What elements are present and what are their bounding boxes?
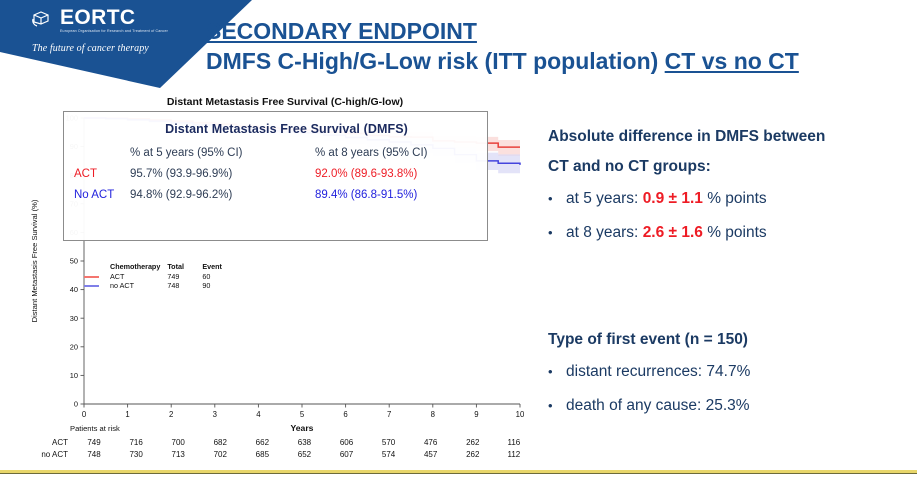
at-risk-cell: 662 [241, 436, 283, 448]
km-legend-swatch-act [84, 276, 99, 278]
page-title: SECONDARY ENDPOINT DMFS C-High/G-Low ris… [206, 16, 906, 76]
km-legend-noact-total: 748 [167, 281, 202, 290]
right-text-column-bottom: Type of first event (n = 150) • distant … [548, 325, 906, 423]
at-risk-cell: 574 [368, 448, 410, 460]
km-legend-header-0: Chemotherapy [110, 262, 167, 272]
right-heading-1-line2: CT and no CT groups: [548, 152, 906, 182]
at-risk-cell: 112 [494, 448, 534, 460]
right-heading-1-line1: Absolute difference in DMFS between [548, 122, 906, 152]
y-axis-title: Distant Metastasis Free Survival (%) [30, 199, 39, 322]
right-bullet-8y-prefix: at 8 years: [566, 224, 643, 241]
x-tick-label: 7 [387, 410, 391, 419]
at-risk-cell: 457 [410, 448, 452, 460]
stats-row-act-label: ACT [74, 168, 130, 180]
bullet-dot-icon: • [548, 182, 566, 216]
right-bullet-5y-prefix: at 5 years: [566, 190, 643, 207]
accent-bar-segment [600, 470, 917, 473]
right-bullet-8y-value: 2.6 ± 1.6 [643, 224, 703, 241]
right-bullet-8y: • at 8 years: 2.6 ± 1.6 % points [548, 216, 906, 250]
patients-at-risk-table: Patients at risk ACT74971670068266263860… [22, 424, 534, 460]
km-legend-swatch-noact [84, 285, 99, 287]
eortc-logo: EORTC European Organisation for Research… [30, 8, 220, 54]
logo-wordmark: EORTC [60, 8, 168, 28]
bottom-accent-bar [0, 466, 917, 477]
stats-row-act-y5: 95.7% (93.9-96.9%) [130, 168, 315, 180]
at-risk-cell: 476 [410, 436, 452, 448]
page-title-line1: SECONDARY ENDPOINT [206, 18, 477, 44]
y-tick-label: 50 [70, 257, 78, 266]
at-risk-cell: 638 [283, 436, 325, 448]
x-tick-label: 8 [431, 410, 435, 419]
km-legend-header-row: Chemotherapy Total Event [84, 262, 237, 272]
stats-row-noact-y5: 94.8% (92.9-96.2%) [130, 189, 315, 201]
bullet-dot-icon: • [548, 355, 566, 389]
right-bullet-5y-suffix: % points [703, 190, 767, 207]
stats-header-y8: % at 8 years (95% CI) [315, 147, 477, 159]
km-legend-act-event: 60 [202, 272, 237, 281]
km-legend-header-1: Total [167, 262, 202, 272]
stats-row-noact: No ACT 94.8% (92.9-96.2%) 89.4% (86.8-91… [74, 189, 477, 201]
km-legend-header-2: Event [202, 262, 237, 272]
x-tick-label: 4 [256, 410, 261, 419]
stats-row-noact-label: No ACT [74, 189, 130, 201]
at-risk-cell: 682 [199, 436, 241, 448]
at-risk-cell: 713 [157, 448, 199, 460]
logo-tagline: The future of cancer therapy [32, 43, 220, 54]
eortc-logo-mark-icon [30, 8, 56, 34]
logo-subtitle: European Organisation for Research and T… [60, 29, 168, 34]
at-risk-cell: 702 [199, 448, 241, 460]
accent-bar-segment [0, 473, 917, 475]
at-risk-cell: 570 [368, 436, 410, 448]
at-risk-row-label: ACT [22, 436, 73, 448]
stats-row-noact-y8: 89.4% (86.8-91.5%) [315, 189, 477, 201]
at-risk-cell: 716 [115, 436, 157, 448]
y-tick-label: 40 [70, 285, 78, 294]
at-risk-cell: 607 [325, 448, 367, 460]
km-legend-row-noact: no ACT 748 90 [84, 281, 237, 290]
km-legend-noact-event: 90 [202, 281, 237, 290]
x-tick-label: 1 [125, 410, 129, 419]
at-risk-row: no ACT748730713702685652607574457262112 [22, 448, 534, 460]
bullet-dot-icon: • [548, 389, 566, 423]
x-tick-label: 2 [169, 410, 173, 419]
right-text-column-top: Absolute difference in DMFS between CT a… [548, 122, 906, 250]
chart-title: Distant Metastasis Free Survival (C-high… [36, 96, 534, 108]
at-risk-cell: 748 [73, 448, 115, 460]
dmfs-stats-box: Distant Metastasis Free Survival (DMFS) … [63, 111, 488, 241]
km-legend: Chemotherapy Total Event ACT 749 60 no A… [84, 262, 237, 290]
y-tick-label: 0 [74, 400, 78, 409]
y-tick-label: 30 [70, 314, 78, 323]
at-risk-row-label: no ACT [22, 448, 73, 460]
x-tick-label: 10 [516, 410, 525, 419]
at-risk-cell: 606 [325, 436, 367, 448]
at-risk-cell: 730 [115, 448, 157, 460]
at-risk-cell: 700 [157, 436, 199, 448]
right-bullet-5y: • at 5 years: 0.9 ± 1.1 % points [548, 182, 906, 216]
stats-header-row: % at 5 years (95% CI) % at 8 years (95% … [74, 147, 477, 159]
at-risk-cell: 685 [241, 448, 283, 460]
km-legend-row-act: ACT 749 60 [84, 272, 237, 281]
right-bullet-8y-suffix: % points [703, 224, 767, 241]
x-tick-label: 9 [474, 410, 478, 419]
y-tick-label: 10 [70, 371, 78, 380]
at-risk-cell: 749 [73, 436, 115, 448]
bullet-dot-icon: • [548, 216, 566, 250]
page-title-line2: DMFS C-High/G-Low risk (ITT population) [206, 48, 665, 74]
y-tick-label: 20 [70, 342, 78, 351]
x-tick-label: 3 [213, 410, 217, 419]
stats-header-y5: % at 5 years (95% CI) [130, 147, 315, 159]
at-risk-cell: 262 [452, 448, 494, 460]
x-tick-label: 0 [82, 410, 87, 419]
patients-at-risk-title: Patients at risk [70, 424, 534, 433]
km-legend-act-total: 749 [167, 272, 202, 281]
right-heading-2: Type of first event (n = 150) [548, 325, 906, 355]
right-bullet-death-text: death of any cause: 25.3% [566, 389, 750, 423]
page-title-line2-emphasis: CT vs no CT [665, 48, 799, 74]
right-bullet-recurrence-text: distant recurrences: 74.7% [566, 355, 750, 389]
at-risk-cell: 652 [283, 448, 325, 460]
km-legend-act-name: ACT [110, 272, 167, 281]
x-tick-label: 5 [300, 410, 305, 419]
stats-row-act: ACT 95.7% (93.9-96.9%) 92.0% (89.6-93.8%… [74, 168, 477, 180]
x-tick-label: 6 [343, 410, 347, 419]
at-risk-cell: 116 [494, 436, 534, 448]
right-bullet-5y-value: 0.9 ± 1.1 [643, 190, 703, 207]
km-legend-noact-name: no ACT [110, 281, 167, 290]
stats-box-title: Distant Metastasis Free Survival (DMFS) [96, 122, 477, 136]
right-bullet-death: • death of any cause: 25.3% [548, 389, 906, 423]
at-risk-row: ACT749716700682662638606570476262116 [22, 436, 534, 448]
accent-bar-segment [0, 470, 600, 473]
at-risk-cell: 262 [452, 436, 494, 448]
stats-row-act-y8: 92.0% (89.6-93.8%) [315, 168, 477, 180]
right-bullet-recurrence: • distant recurrences: 74.7% [548, 355, 906, 389]
